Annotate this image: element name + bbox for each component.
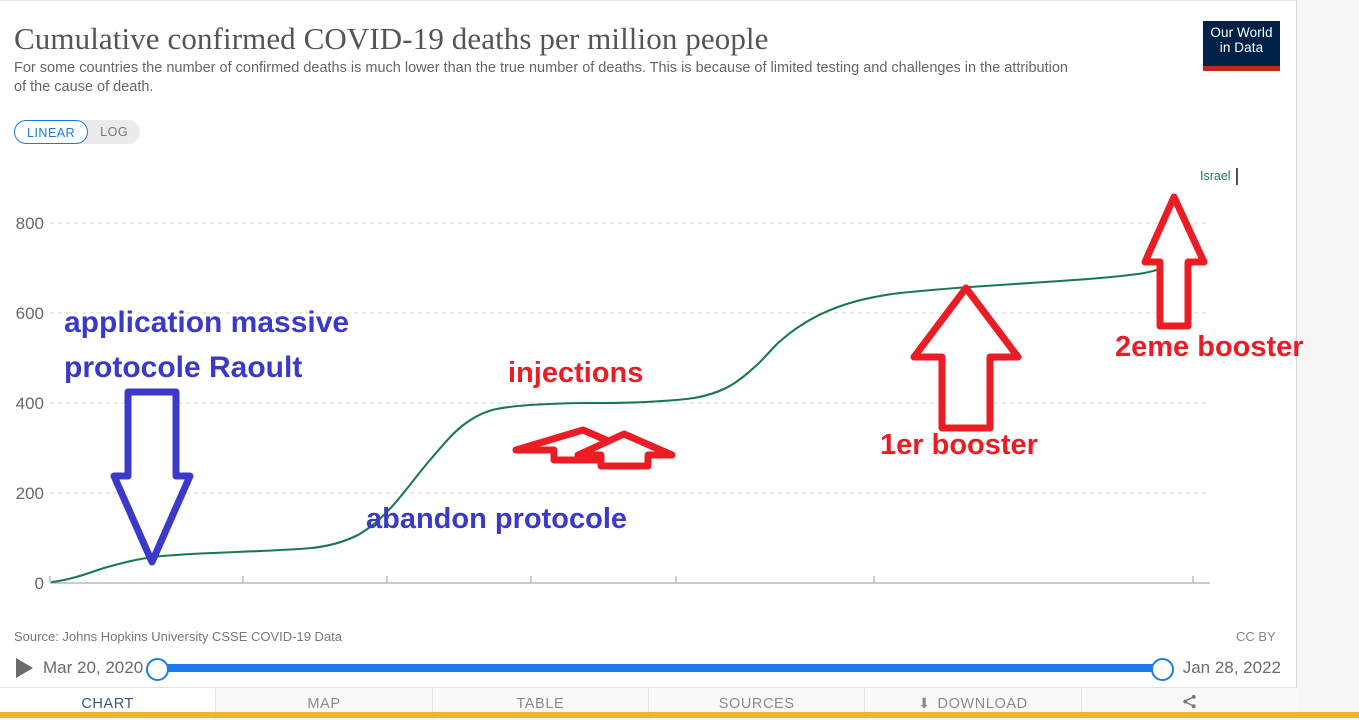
our-world-in-data-logo[interactable]: Our World in Data	[1203, 21, 1280, 71]
y-tick-800: 800	[16, 214, 44, 233]
annotation-abandon-protocole: abandon protocole	[366, 503, 627, 536]
annotation-raoult-line2: protocole Raoult	[64, 345, 349, 390]
tab-table-label: TABLE	[516, 696, 564, 712]
timeline-track[interactable]	[155, 664, 1165, 672]
scale-toggle: LINEAR LOG	[14, 120, 140, 144]
annotation-raoult: application massive protocole Raoult	[64, 300, 349, 390]
tab-download-label: DOWNLOAD	[938, 696, 1028, 712]
logo-red-rule	[1203, 66, 1280, 71]
scale-linear-button[interactable]: LINEAR	[14, 120, 88, 144]
license-note: CC BY	[1236, 629, 1276, 644]
timeline-handle-start[interactable]	[146, 658, 169, 681]
tab-chart-label: CHART	[81, 696, 134, 712]
play-icon[interactable]	[16, 658, 33, 678]
y-tick-0: 0	[35, 574, 44, 590]
tab-map-label: MAP	[307, 696, 340, 712]
bottom-yellow-strip	[0, 712, 1359, 718]
share-icon	[1182, 694, 1197, 713]
y-axis-labels: 800 600 400 200 0	[16, 214, 44, 590]
page-title: Cumulative confirmed COVID-19 deaths per…	[14, 21, 1154, 57]
series-end-label-israel: Israel	[1200, 169, 1231, 183]
timeline-handle-end[interactable]	[1151, 658, 1174, 681]
timeline-end-date: Jan 28, 2022	[1183, 658, 1281, 678]
tab-sources-label: SOURCES	[719, 696, 795, 712]
timeline-start-date: Mar 20, 2020	[43, 658, 143, 678]
y-tick-600: 600	[16, 304, 44, 323]
logo-line-2: in Data	[1208, 40, 1275, 55]
x-axis	[50, 576, 1210, 583]
chart-page: Cumulative confirmed COVID-19 deaths per…	[0, 0, 1359, 720]
time-slider: Mar 20, 2020 Jan 28, 2022	[0, 650, 1297, 686]
scale-log-button[interactable]: LOG	[88, 120, 140, 144]
annotation-raoult-line1: application massive	[64, 300, 349, 345]
source-note: Source: Johns Hopkins University CSSE CO…	[14, 629, 342, 644]
top-divider	[0, 0, 1297, 1]
text-cursor	[1236, 168, 1238, 185]
y-tick-400: 400	[16, 394, 44, 413]
annotation-1er-booster: 1er booster	[880, 429, 1038, 462]
annotation-2eme-booster: 2eme booster	[1115, 331, 1304, 364]
page-subtitle: For some countries the number of confirm…	[14, 59, 1084, 96]
download-icon: ⬇	[918, 695, 930, 712]
annotation-injections: injections	[508, 357, 643, 390]
y-tick-200: 200	[16, 484, 44, 503]
logo-line-1: Our World	[1208, 25, 1275, 40]
